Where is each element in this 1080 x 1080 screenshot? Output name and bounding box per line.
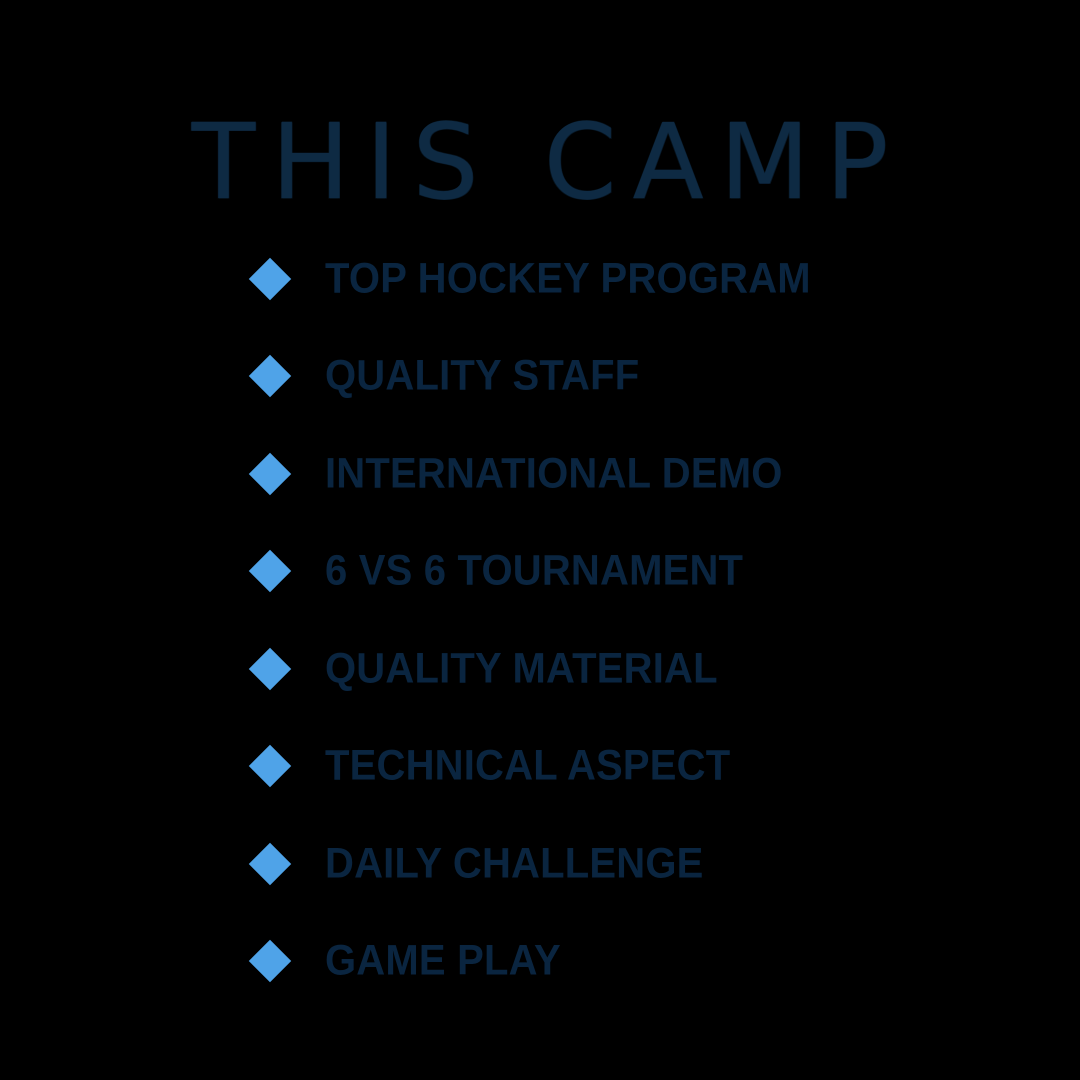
feature-list: TOP HOCKEY PROGRAM QUALITY STAFF INTERNA… [0,230,1080,1010]
diamond-icon-shape [249,355,291,397]
list-item: DAILY CHALLENGE [0,815,1080,913]
diamond-icon [249,550,291,592]
list-item: 6 VS 6 TOURNAMENT [0,523,1080,621]
page-title: THIS CAMP [176,106,905,218]
diamond-icon [249,258,291,300]
feature-label: TECHNICAL ASPECT [325,745,730,788]
feature-label: INTERNATIONAL DEMO [325,452,783,495]
feature-label: TOP HOCKEY PROGRAM [325,257,811,300]
list-item: QUALITY MATERIAL [0,620,1080,718]
diamond-icon-shape [249,843,291,885]
feature-label: DAILY CHALLENGE [325,842,704,885]
diamond-icon-shape [249,648,291,690]
diamond-icon-shape [249,258,291,300]
feature-label: QUALITY STAFF [325,355,639,398]
diamond-icon-shape [249,550,291,592]
diamond-icon-shape [249,940,291,982]
diamond-icon [249,745,291,787]
list-item: INTERNATIONAL DEMO [0,425,1080,523]
diamond-icon [249,843,291,885]
list-item: TECHNICAL ASPECT [0,718,1080,816]
poster-canvas: THIS CAMP TOP HOCKEY PROGRAM QUALITY STA… [0,0,1080,1080]
diamond-icon [249,355,291,397]
diamond-icon-shape [249,453,291,495]
list-item: QUALITY STAFF [0,328,1080,426]
diamond-icon [249,453,291,495]
list-item: GAME PLAY [0,913,1080,1011]
feature-label: GAME PLAY [325,940,561,983]
feature-label: 6 VS 6 TOURNAMENT [325,550,743,593]
diamond-icon [249,648,291,690]
list-item: TOP HOCKEY PROGRAM [0,230,1080,328]
diamond-icon [249,940,291,982]
feature-label: QUALITY MATERIAL [325,647,718,690]
diamond-icon-shape [249,745,291,787]
